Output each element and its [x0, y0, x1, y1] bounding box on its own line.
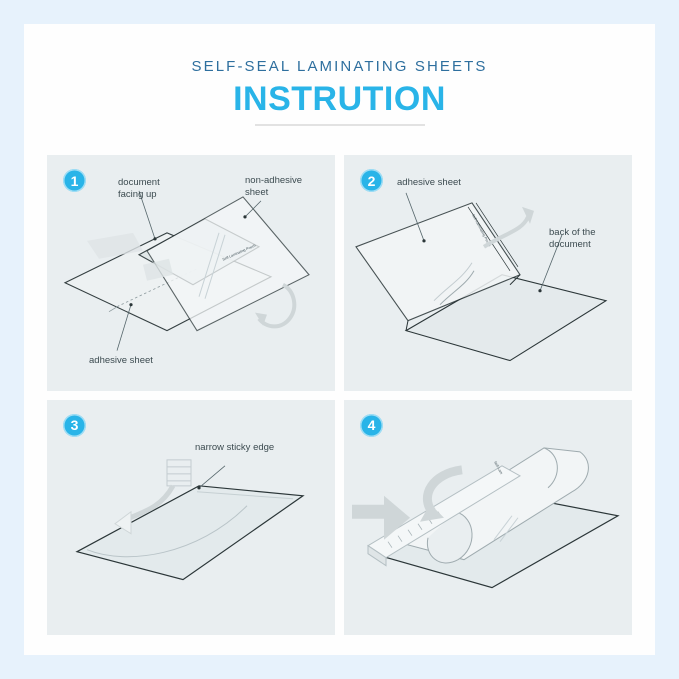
header-subtitle: SELF-SEAL LAMINATING SHEETS — [24, 58, 655, 76]
label-narrow-sticky-edge: narrow sticky edge — [195, 442, 274, 454]
label-document-facing-up: document facing up — [118, 177, 160, 200]
page-header: SELF-SEAL LAMINATING SHEETS INSTRUTION — [24, 58, 655, 126]
steps-grid: Self-Laminating Pouch — [47, 155, 632, 635]
step-panel-2: Self-Laminating Pouch 2 adhesive shee — [344, 155, 632, 391]
step-badge-3: 3 — [63, 414, 86, 437]
title-underline — [255, 124, 425, 126]
step-2-illustration: Self-Laminating Pouch — [344, 155, 632, 391]
step-3-illustration — [47, 400, 335, 636]
step-badge-2: 2 — [360, 169, 383, 192]
page-title: INSTRUTION — [24, 79, 655, 119]
step-badge-1: 1 — [63, 169, 86, 192]
instruction-card: SELF-SEAL LAMINATING SHEETS INSTRUTION — [24, 24, 655, 655]
step-panel-3: 3 narrow sticky edge — [47, 400, 335, 636]
step-panel-4: Self-Lam 4 — [344, 400, 632, 636]
step-panel-1: Self-Laminating Pouch — [47, 155, 335, 391]
label-back-of-the-document: back of the document — [549, 227, 595, 250]
label-adhesive-sheet: adhesive sheet — [397, 177, 461, 189]
label-adhesive-sheet: adhesive sheet — [89, 355, 153, 367]
step-badge-4: 4 — [360, 414, 383, 437]
step-4-illustration: Self-Lam — [344, 400, 632, 636]
label-non-adhesive-sheet: non-adhesive sheet — [245, 175, 302, 198]
